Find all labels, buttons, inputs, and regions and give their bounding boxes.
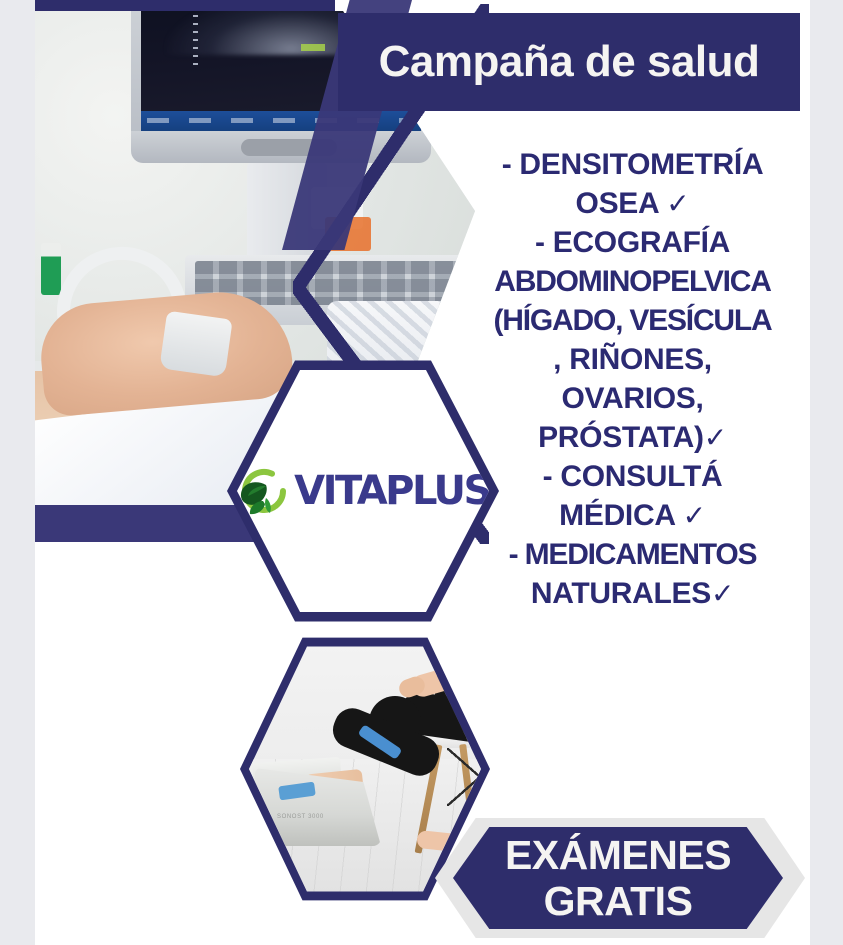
ultrasound-scale-dots	[193, 15, 198, 67]
logo-hexagon: VITAPLUS	[227, 355, 499, 627]
page-title: Campaña de salud	[379, 37, 760, 87]
health-campaign-poster: Campaña de salud - DENSITOMETRÍA OSEA ✓ …	[35, 0, 810, 945]
check-icon: ✓	[711, 578, 734, 609]
service-item: - CONSULTÁ	[455, 457, 810, 496]
densitometer-model-label: SONOST 3000	[277, 814, 324, 820]
service-item: , RIÑONES,	[455, 340, 810, 379]
check-icon: ✓	[666, 188, 689, 219]
check-icon: ✓	[683, 500, 706, 531]
services-list: - DENSITOMETRÍA OSEA ✓ - ECOGRAFÍA ABDOM…	[455, 145, 810, 613]
service-item: MÉDICA ✓	[455, 496, 810, 535]
service-item: (HÍGADO, VESÍCULA	[455, 301, 810, 340]
service-item: PRÓSTATA)✓	[455, 418, 810, 457]
ultrasound-gel-bottle	[41, 243, 61, 295]
service-item: OVARIOS,	[455, 379, 810, 418]
check-icon: ✓	[704, 422, 727, 453]
service-item: - ECOGRAFÍA	[455, 223, 810, 262]
ultrasound-probe	[159, 311, 232, 378]
service-item: - MEDICAMENTOS	[455, 535, 810, 574]
service-item: ABDOMINOPELVICA	[455, 262, 810, 301]
cta-line-1: EXÁMENES	[505, 832, 731, 878]
service-item: - DENSITOMETRÍA	[455, 145, 810, 184]
poster-title-banner: Campaña de salud	[338, 13, 800, 111]
cta-line-2: GRATIS	[544, 878, 693, 924]
cta-banner: EXÁMENES GRATIS	[453, 827, 783, 929]
logo-wordmark: VITAPLUS	[294, 468, 490, 514]
service-item: OSEA ✓	[455, 184, 810, 223]
top-navy-accent-bar	[35, 0, 335, 11]
service-item: NATURALES✓	[455, 574, 810, 613]
